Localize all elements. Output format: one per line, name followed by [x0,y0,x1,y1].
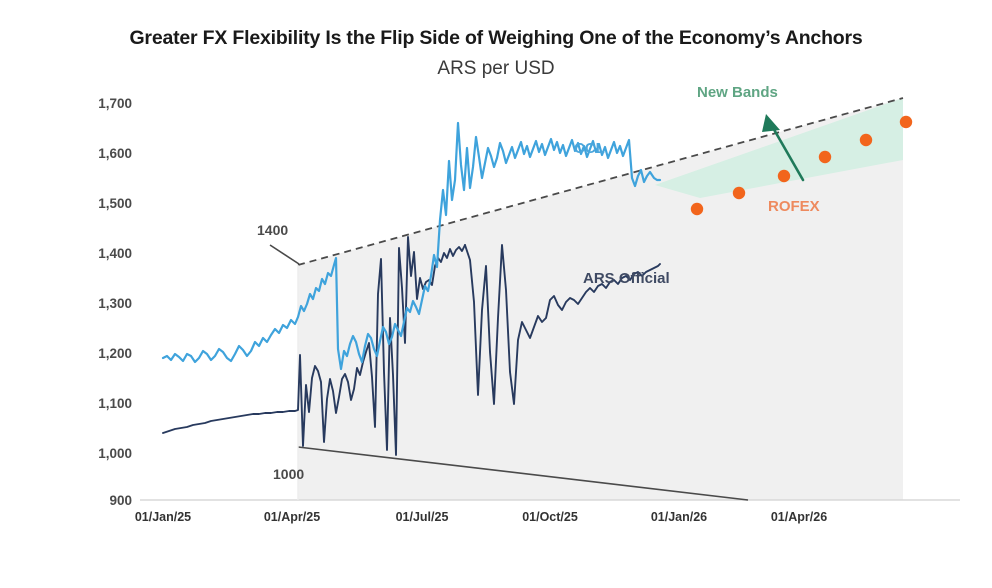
y-tick-label: 1,600 [62,146,132,161]
new-bands-label: New Bands [697,84,778,101]
y-tick-label: 1,300 [62,296,132,311]
y-tick-label: 1,700 [62,96,132,111]
rofex-series-label: ROFEX [768,198,820,215]
rofex-dot [733,187,745,199]
band-upper-leader-line [270,245,299,264]
x-tick-label: 01/Jan/25 [113,510,213,524]
ccl-series-label: CCL [574,140,605,157]
y-tick-label: 1,500 [62,196,132,211]
fx-bands-chart [0,0,992,588]
rofex-dot [778,170,790,182]
x-tick-label: 01/Oct/25 [500,510,600,524]
rofex-dot [860,134,872,146]
x-tick-label: 01/Apr/26 [749,510,849,524]
y-tick-label: 1,400 [62,246,132,261]
x-tick-label: 01/Jan/26 [629,510,729,524]
x-tick-label: 01/Apr/25 [242,510,342,524]
chart-page: Greater FX Flexibility Is the Flip Side … [0,0,992,588]
x-tick-label: 01/Jul/25 [372,510,472,524]
rofex-dot [819,151,831,163]
band-lower-value-label: 1000 [273,466,304,482]
ars-official-series-label: ARS Official [583,270,670,287]
y-tick-label: 1,100 [62,396,132,411]
y-tick-label: 1,000 [62,446,132,461]
band-upper-value-label: 1400 [257,222,288,238]
y-tick-label: 900 [62,493,132,508]
y-tick-label: 1,200 [62,346,132,361]
rofex-dot [691,203,703,215]
rofex-dot [900,116,912,128]
chart-canvas [0,0,992,588]
